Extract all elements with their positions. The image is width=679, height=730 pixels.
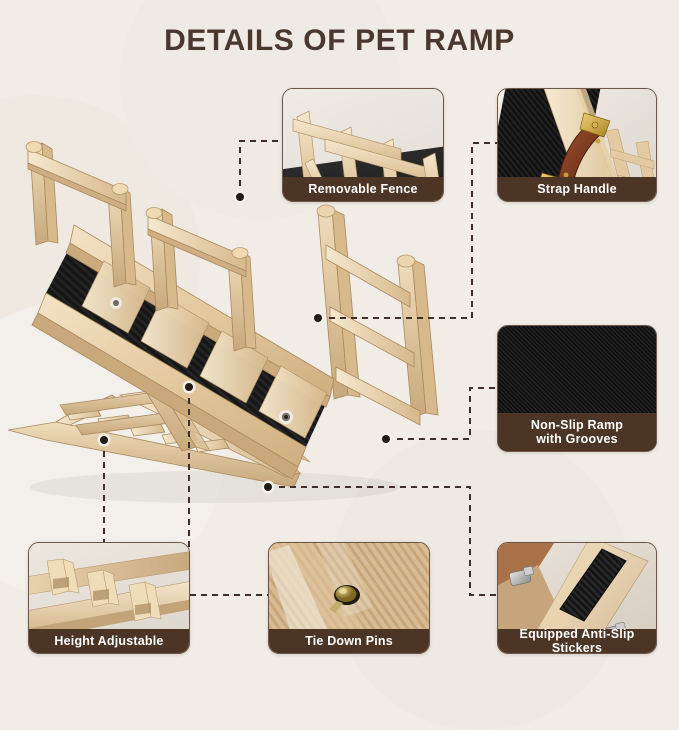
callout-label-height-adjustable: Height Adjustable	[29, 629, 189, 653]
callout-label-removable-fence: Removable Fence	[283, 177, 443, 201]
infographic-stage: DETAILS OF PET RAMP	[0, 0, 679, 679]
callout-label-tie-down-pins: Tie Down Pins	[269, 629, 429, 653]
callout-card-strap-handle[interactable]: Strap Handle	[497, 88, 657, 202]
callout-card-height-adjustable[interactable]: Height Adjustable	[28, 542, 190, 654]
callout-label-anti-slip-stickers: Equipped Anti-Slip Stickers	[498, 629, 656, 653]
callout-label-strap-handle: Strap Handle	[498, 177, 656, 201]
callout-label-non-slip-ramp-line1: Non-Slip Ramp	[531, 418, 623, 432]
callout-label-non-slip-ramp-line2: with Grooves	[536, 432, 618, 446]
connector-dots	[98, 191, 393, 494]
callout-card-tie-down-pins[interactable]: Tie Down Pins	[268, 542, 430, 654]
callout-label-non-slip-ramp: Non-Slip Ramp with Grooves	[498, 413, 656, 451]
callout-card-removable-fence[interactable]: Removable Fence	[282, 88, 444, 202]
callout-card-anti-slip-stickers[interactable]: Equipped Anti-Slip Stickers	[497, 542, 657, 654]
callout-card-non-slip-ramp[interactable]: Non-Slip Ramp with Grooves	[497, 325, 657, 452]
